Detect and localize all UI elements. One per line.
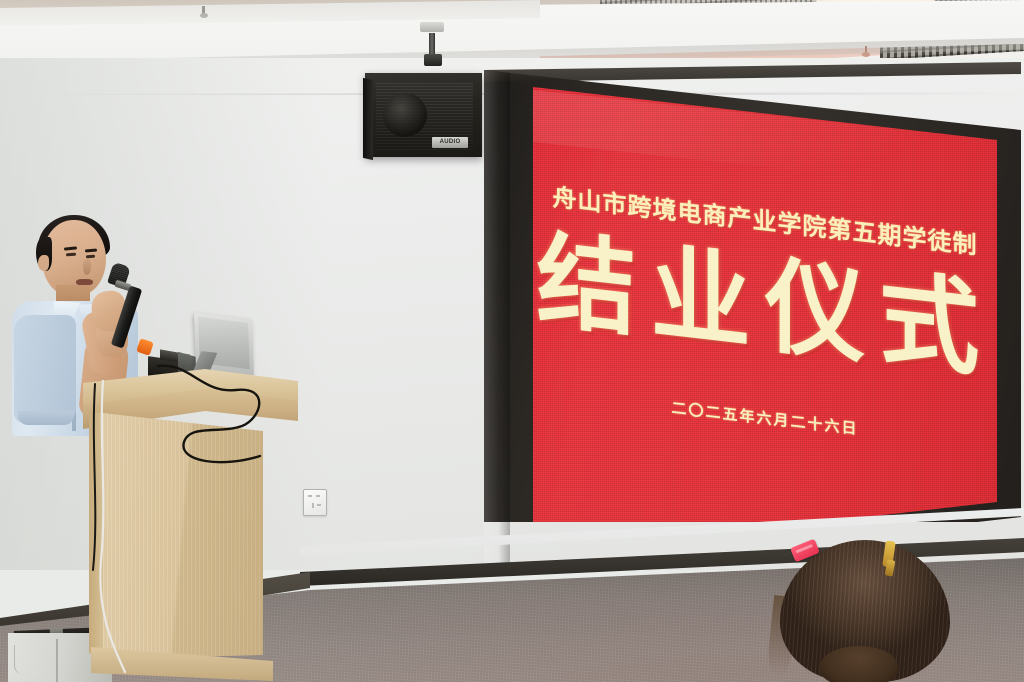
ceiling-sprinkler-icon [200, 6, 208, 20]
presenter-sleeve-cuff [18, 411, 74, 425]
led-display-top-edge [484, 62, 1024, 84]
led-display: 舟山市跨境电商产业学院第五期学徒制 结业仪式 二〇二五年六月二十六日 [478, 62, 1024, 522]
wooden-lectern [83, 369, 298, 682]
presenter-ear [38, 255, 49, 271]
presenter-trouser-pocket [14, 645, 39, 675]
speaker-brand-badge: AUDIO [432, 137, 468, 148]
presenter-nose [83, 259, 91, 275]
speaker-side-panel [363, 78, 373, 160]
photo-scene: AUDIO 舟山市跨境电商产业学院第五期学徒制 结业仪式 二〇二五年六月二十六日 [0, 0, 1024, 682]
outlet-slot [316, 495, 320, 497]
audience-hair-bun [820, 646, 898, 682]
speaker-mount-joint [424, 54, 442, 66]
presenter-trouser-seam [56, 639, 58, 682]
presenter-sleeve [14, 315, 76, 423]
speaker-driver-cone [383, 93, 427, 137]
ceiling-sprinkler-icon-2 [862, 46, 870, 58]
speaker-ceiling-plate [420, 22, 444, 32]
wall-power-outlet[interactable] [303, 489, 327, 516]
outlet-slot [312, 503, 314, 508]
led-bezel-highlight [484, 70, 510, 580]
led-slide-date: 二〇二五年六月二十六日 [533, 381, 997, 455]
outlet-slot [317, 504, 321, 506]
wall-loudspeaker: AUDIO [365, 73, 482, 157]
outlet-slot [308, 495, 312, 497]
lectern-front-panel [103, 409, 281, 659]
presenter-eye-right [86, 255, 95, 259]
